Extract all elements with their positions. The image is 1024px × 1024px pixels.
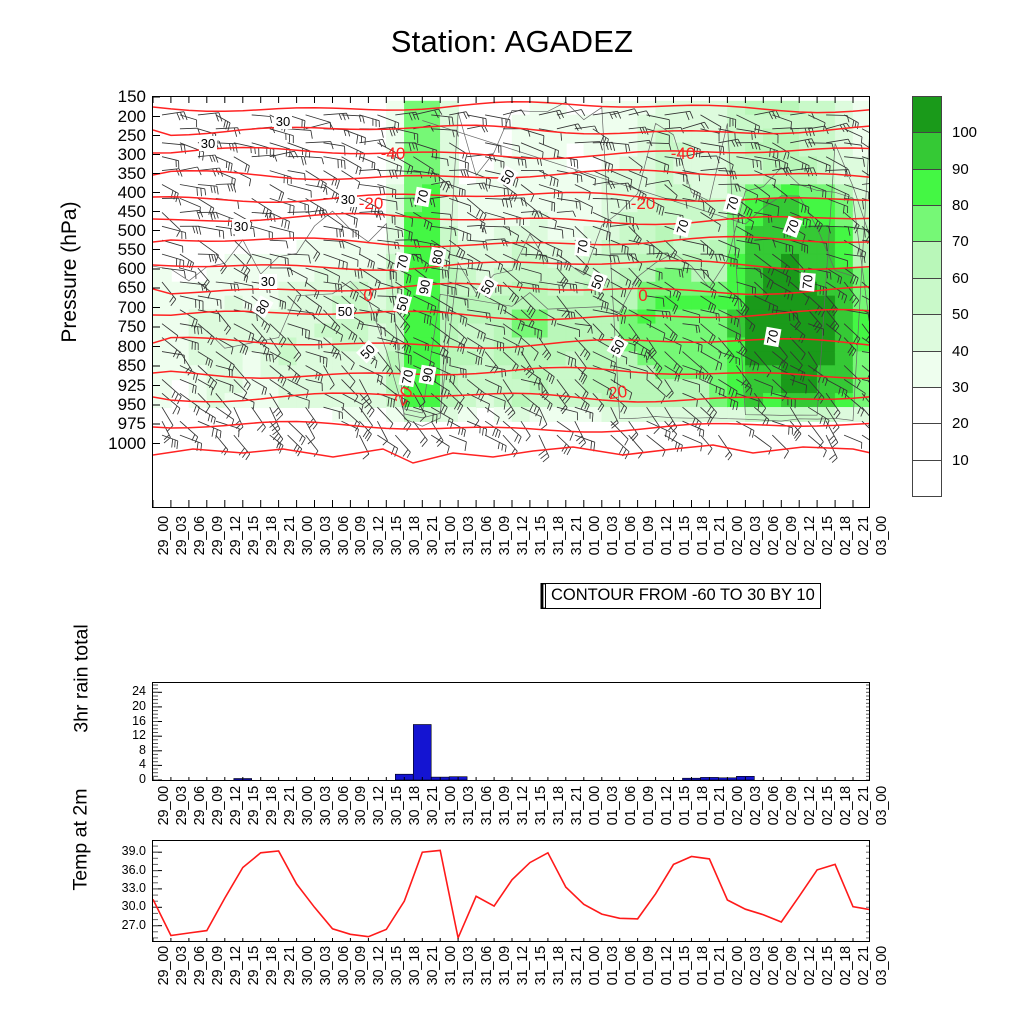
colorbar-cell-7	[912, 351, 942, 388]
main-time-tick-01_03: 01_03	[606, 516, 621, 555]
colorbar-label-30: 30	[952, 380, 969, 395]
temp-time-tick-01_12: 01_12	[660, 946, 675, 985]
rain-time-tick-31_00: 31_00	[444, 786, 459, 825]
main-time-tick-29_00: 29_00	[157, 516, 172, 555]
pressure-tick-975: 975	[100, 415, 146, 432]
main-time-tick-30_03: 30_03	[319, 516, 334, 555]
main-time-tick-30_21: 30_21	[426, 516, 441, 555]
rain-time-tick-01_12: 01_12	[660, 786, 675, 825]
main-time-tick-31_00: 31_00	[444, 516, 459, 555]
temp-time-tick-31_06: 31_06	[480, 946, 495, 985]
main-time-tick-30_18: 30_18	[408, 516, 423, 555]
rain-time-tick-02_06: 02_06	[767, 786, 782, 825]
rain-time-tick-29_18: 29_18	[265, 786, 280, 825]
colorbar-cell-10	[912, 460, 942, 497]
main-time-tick-02_12: 02_12	[803, 516, 818, 555]
pressure-tick-850: 850	[100, 357, 146, 374]
temp-time-tick-31_18: 31_18	[552, 946, 567, 985]
colorbar-cell-9	[912, 423, 942, 460]
temp-tick-36.0: 36.0	[98, 864, 146, 877]
temp-tick-27.0: 27.0	[98, 919, 146, 932]
svg-text:70: 70	[574, 239, 590, 255]
main-time-tick-01_00: 01_00	[588, 516, 603, 555]
rain-time-tick-02_15: 02_15	[821, 786, 836, 825]
svg-text:90: 90	[419, 366, 436, 383]
main-time-tick-02_06: 02_06	[767, 516, 782, 555]
temp-time-tick-30_15: 30_15	[390, 946, 405, 985]
main-time-tick-29_18: 29_18	[265, 516, 280, 555]
rain-time-tick-31_06: 31_06	[480, 786, 495, 825]
main-time-tick-31_12: 31_12	[516, 516, 531, 555]
svg-text:0: 0	[363, 286, 372, 305]
svg-text:30: 30	[261, 274, 275, 289]
colorbar-cell-8	[912, 387, 942, 424]
svg-text:50: 50	[338, 304, 352, 319]
rain-time-tick-01_15: 01_15	[678, 786, 693, 825]
svg-text:30: 30	[201, 136, 215, 151]
rain-time-tick-30_03: 30_03	[319, 786, 334, 825]
temp-time-tick-29_15: 29_15	[247, 946, 262, 985]
pressure-tick-700: 700	[100, 299, 146, 316]
temp-time-tick-29_09: 29_09	[211, 946, 226, 985]
colorbar-label-20: 20	[952, 416, 969, 431]
colorbar-label-10: 10	[952, 453, 969, 468]
svg-text:70: 70	[399, 368, 416, 385]
temp-time-tick-01_15: 01_15	[678, 946, 693, 985]
rain-time-tick-29_03: 29_03	[175, 786, 190, 825]
rain-time-tick-02_00: 02_00	[731, 786, 746, 825]
main-time-tick-02_21: 02_21	[857, 516, 872, 555]
temp-tick-39.0: 39.0	[98, 845, 146, 858]
temp-time-tick-29_03: 29_03	[175, 946, 190, 985]
pressure-tick-200: 200	[100, 108, 146, 125]
rain-time-tick-02_21: 02_21	[857, 786, 872, 825]
rain-time-tick-31_18: 31_18	[552, 786, 567, 825]
svg-text:20: 20	[607, 382, 628, 403]
rain-time-tick-01_18: 01_18	[696, 786, 711, 825]
main-time-tick-01_18: 01_18	[696, 516, 711, 555]
main-time-tick-01_12: 01_12	[660, 516, 675, 555]
rain-tick-24: 24	[108, 685, 146, 698]
pressure-tick-300: 300	[100, 146, 146, 163]
main-time-tick-02_15: 02_15	[821, 516, 836, 555]
temp-tick-33.0: 33.0	[98, 882, 146, 895]
rain-time-tick-03_00: 03_00	[875, 786, 890, 825]
rain-time-tick-29_00: 29_00	[157, 786, 172, 825]
svg-text:-40: -40	[671, 144, 696, 163]
pressure-tick-800: 800	[100, 338, 146, 355]
colorbar-cell-1	[912, 132, 942, 169]
contour-legend-note: CONTOUR FROM -60 TO 30 BY 10	[545, 583, 821, 609]
colorbar-label-70: 70	[952, 234, 969, 249]
temp-time-tick-30_00: 30_00	[301, 946, 316, 985]
temp-time-tick-02_18: 02_18	[839, 946, 854, 985]
colorbar-label-60: 60	[952, 271, 969, 286]
temp-time-tick-30_06: 30_06	[337, 946, 352, 985]
main-time-tick-01_06: 01_06	[624, 516, 639, 555]
svg-text:30: 30	[234, 219, 248, 234]
temp-time-tick-31_00: 31_00	[444, 946, 459, 985]
svg-text:0: 0	[638, 286, 647, 305]
temp-time-tick-31_21: 31_21	[570, 946, 585, 985]
temp-time-tick-29_00: 29_00	[157, 946, 172, 985]
pressure-tick-750: 750	[100, 318, 146, 335]
rain-time-tick-31_09: 31_09	[498, 786, 513, 825]
main-time-tick-31_18: 31_18	[552, 516, 567, 555]
svg-text:70: 70	[394, 253, 411, 270]
temp-time-tick-29_12: 29_12	[229, 946, 244, 985]
time-height-humidity-panel[interactable]: -40-40-20-200020203030303050505050505050…	[152, 96, 870, 508]
rain-time-tick-30_09: 30_09	[354, 786, 369, 825]
rain-axis-ticks: 24201612840	[106, 676, 146, 786]
svg-text:70: 70	[764, 328, 781, 345]
main-time-tick-01_15: 01_15	[678, 516, 693, 555]
rain-time-tick-01_03: 01_03	[606, 786, 621, 825]
rain-time-tick-02_09: 02_09	[785, 786, 800, 825]
rain-tick-12: 12	[108, 729, 146, 742]
temp-time-tick-01_09: 01_09	[642, 946, 657, 985]
temp-time-axis: 29_0029_0329_0629_0929_1229_1529_1829_21…	[152, 946, 870, 1006]
pressure-tick-600: 600	[100, 260, 146, 277]
main-time-tick-31_03: 31_03	[462, 516, 477, 555]
page-title: Station: AGADEZ	[0, 24, 1024, 60]
temp-time-tick-30_18: 30_18	[408, 946, 423, 985]
rain-time-tick-01_06: 01_06	[624, 786, 639, 825]
rain-time-tick-29_15: 29_15	[247, 786, 262, 825]
main-time-tick-03_00: 03_00	[875, 516, 890, 555]
main-time-tick-30_06: 30_06	[337, 516, 352, 555]
rain-time-tick-30_06: 30_06	[337, 786, 352, 825]
colorbar-label-80: 80	[952, 198, 969, 213]
rain-time-tick-01_09: 01_09	[642, 786, 657, 825]
temp-time-tick-31_03: 31_03	[462, 946, 477, 985]
main-time-tick-02_18: 02_18	[839, 516, 854, 555]
temp-time-tick-31_12: 31_12	[516, 946, 531, 985]
svg-text:70: 70	[414, 188, 431, 205]
rain-time-tick-02_12: 02_12	[803, 786, 818, 825]
temp-tick-30.0: 30.0	[98, 900, 146, 913]
temp-time-tick-02_00: 02_00	[731, 946, 746, 985]
rain-time-tick-30_21: 30_21	[426, 786, 441, 825]
rain-tick-20: 20	[108, 700, 146, 713]
pressure-tick-500: 500	[100, 222, 146, 239]
main-time-axis: 29_0029_0329_0629_0929_1229_1529_1829_21…	[152, 516, 870, 576]
main-time-tick-30_09: 30_09	[354, 516, 369, 555]
pressure-tick-550: 550	[100, 241, 146, 258]
rain-time-tick-31_15: 31_15	[534, 786, 549, 825]
main-time-tick-02_00: 02_00	[731, 516, 746, 555]
rain-time-tick-29_12: 29_12	[229, 786, 244, 825]
main-time-tick-29_12: 29_12	[229, 516, 244, 555]
colorbar-label-40: 40	[952, 344, 969, 359]
pressure-tick-925: 925	[100, 377, 146, 394]
main-time-tick-01_21: 01_21	[713, 516, 728, 555]
humidity-colorbar: 100908070605040302010	[912, 96, 942, 496]
rain-time-tick-31_21: 31_21	[570, 786, 585, 825]
rain-time-tick-02_18: 02_18	[839, 786, 854, 825]
svg-text:70: 70	[799, 274, 815, 290]
svg-text:-20: -20	[359, 194, 384, 213]
main-time-tick-30_12: 30_12	[372, 516, 387, 555]
temp-time-tick-01_18: 01_18	[696, 946, 711, 985]
rain-time-tick-29_06: 29_06	[193, 786, 208, 825]
temp-time-tick-01_00: 01_00	[588, 946, 603, 985]
colorbar-cell-5	[912, 278, 942, 315]
svg-text:-40: -40	[381, 144, 406, 163]
main-time-tick-30_00: 30_00	[301, 516, 316, 555]
rain-time-tick-01_21: 01_21	[713, 786, 728, 825]
temp-time-tick-29_21: 29_21	[283, 946, 298, 985]
main-time-tick-31_15: 31_15	[534, 516, 549, 555]
pressure-tick-1000: 1000	[100, 435, 146, 452]
svg-text:80: 80	[429, 248, 446, 265]
temp-time-tick-30_03: 30_03	[319, 946, 334, 985]
main-time-tick-29_03: 29_03	[175, 516, 190, 555]
pressure-tick-650: 650	[100, 279, 146, 296]
pressure-tick-450: 450	[100, 203, 146, 220]
pressure-tick-250: 250	[100, 127, 146, 144]
temp-time-tick-31_09: 31_09	[498, 946, 513, 985]
svg-text:30: 30	[276, 114, 290, 129]
temp-time-tick-02_21: 02_21	[857, 946, 872, 985]
temp-time-tick-02_12: 02_12	[803, 946, 818, 985]
rain-time-tick-02_03: 02_03	[749, 786, 764, 825]
main-time-tick-29_06: 29_06	[193, 516, 208, 555]
colorbar-cell-2	[912, 169, 942, 206]
colorbar-label-50: 50	[952, 307, 969, 322]
temperature-2m-panel[interactable]	[152, 840, 870, 942]
main-time-tick-29_15: 29_15	[247, 516, 262, 555]
rain-time-tick-30_18: 30_18	[408, 786, 423, 825]
svg-text:30: 30	[341, 192, 355, 207]
pressure-tick-350: 350	[100, 165, 146, 182]
colorbar-label-100: 100	[952, 125, 977, 140]
rain-tick-16: 16	[108, 715, 146, 728]
main-time-tick-02_09: 02_09	[785, 516, 800, 555]
pressure-tick-150: 150	[100, 88, 146, 105]
temp-time-tick-02_03: 02_03	[749, 946, 764, 985]
temp-axis-label: Temp at 2m	[70, 745, 93, 935]
rain-tick-8: 8	[108, 744, 146, 757]
temp-time-tick-01_03: 01_03	[606, 946, 621, 985]
temp-time-tick-03_00: 03_00	[875, 946, 890, 985]
temp-time-tick-01_06: 01_06	[624, 946, 639, 985]
pressure-axis-ticks: 1502002503003504004505005506006507007508…	[98, 96, 146, 508]
rain-tick-0: 0	[108, 773, 146, 786]
pressure-axis-label: Pressure (hPa)	[58, 162, 82, 382]
colorbar-cell-4	[912, 241, 942, 278]
colorbar-cell-3	[912, 205, 942, 242]
main-time-tick-31_09: 31_09	[498, 516, 513, 555]
rain-time-tick-29_21: 29_21	[283, 786, 298, 825]
colorbar-cell-0	[912, 96, 942, 133]
temp-axis-ticks: 39.036.033.030.027.0	[96, 834, 146, 946]
temp-time-tick-01_21: 01_21	[713, 946, 728, 985]
rain-time-tick-30_00: 30_00	[301, 786, 316, 825]
rain-total-panel[interactable]	[152, 682, 870, 781]
rain-time-tick-30_12: 30_12	[372, 786, 387, 825]
temp-time-tick-31_15: 31_15	[534, 946, 549, 985]
temp-time-tick-02_15: 02_15	[821, 946, 836, 985]
temp-time-tick-30_09: 30_09	[354, 946, 369, 985]
colorbar-label-90: 90	[952, 162, 969, 177]
main-time-tick-01_09: 01_09	[642, 516, 657, 555]
rain-time-tick-31_12: 31_12	[516, 786, 531, 825]
temp-time-tick-29_06: 29_06	[193, 946, 208, 985]
main-time-tick-31_21: 31_21	[570, 516, 585, 555]
rain-time-tick-01_00: 01_00	[588, 786, 603, 825]
main-time-tick-31_06: 31_06	[480, 516, 495, 555]
temp-time-tick-30_21: 30_21	[426, 946, 441, 985]
rain-time-tick-29_09: 29_09	[211, 786, 226, 825]
main-time-tick-02_03: 02_03	[749, 516, 764, 555]
main-time-tick-29_09: 29_09	[211, 516, 226, 555]
temp-time-tick-30_12: 30_12	[372, 946, 387, 985]
pressure-tick-400: 400	[100, 184, 146, 201]
main-time-tick-29_21: 29_21	[283, 516, 298, 555]
rain-time-tick-30_15: 30_15	[390, 786, 405, 825]
pressure-tick-950: 950	[100, 396, 146, 413]
rain-time-tick-31_03: 31_03	[462, 786, 477, 825]
colorbar-cell-6	[912, 314, 942, 351]
temp-time-tick-02_06: 02_06	[767, 946, 782, 985]
temp-time-tick-29_18: 29_18	[265, 946, 280, 985]
rain-tick-4: 4	[108, 758, 146, 771]
svg-text:90: 90	[416, 278, 433, 295]
rain-time-axis: 29_0029_0329_0629_0929_1229_1529_1829_21…	[152, 786, 870, 846]
svg-text:-20: -20	[631, 194, 656, 213]
temp-time-tick-02_09: 02_09	[785, 946, 800, 985]
main-time-tick-30_15: 30_15	[390, 516, 405, 555]
